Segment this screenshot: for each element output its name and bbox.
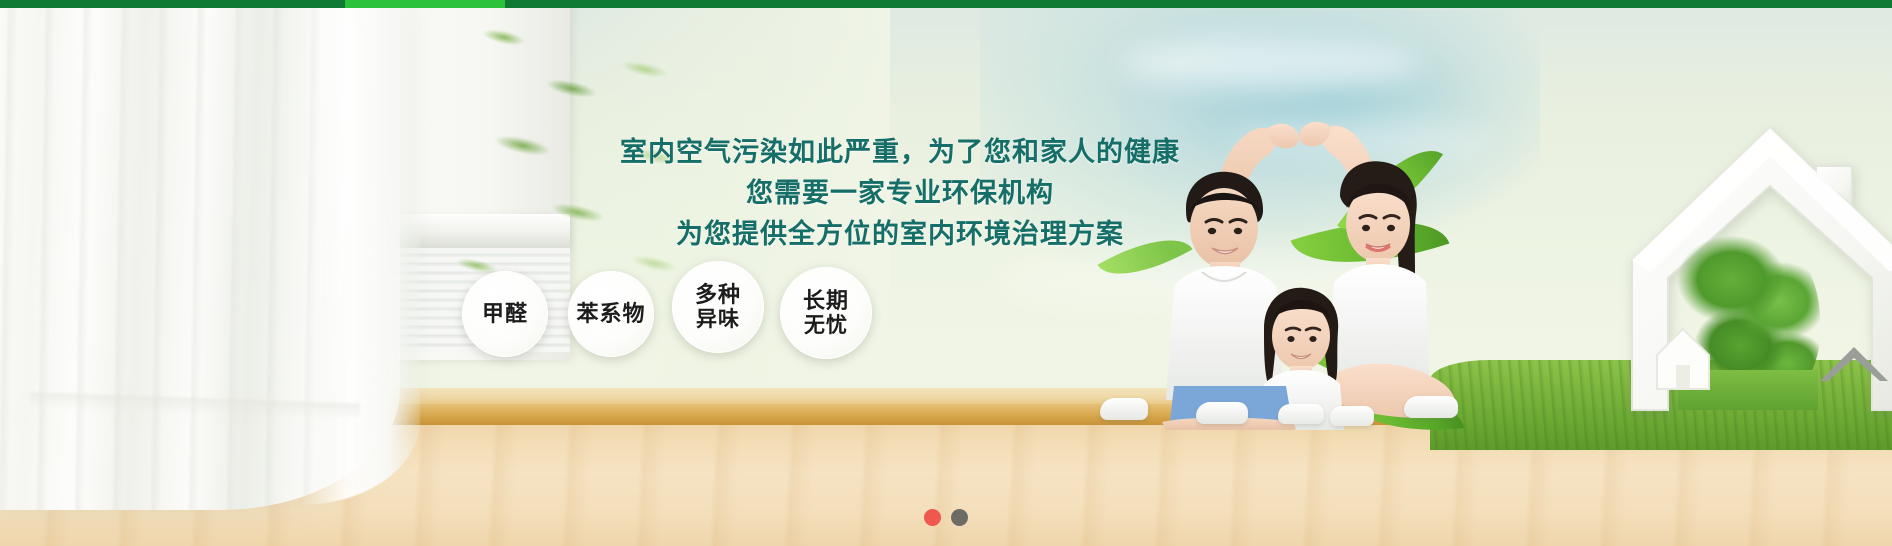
carousel-dot-1[interactable] bbox=[924, 509, 941, 526]
carousel-dot-2[interactable] bbox=[951, 509, 968, 526]
headline-line-2: 您需要一家专业环保机构 bbox=[560, 173, 1240, 214]
hero-headline: 室内空气污染如此严重，为了您和家人的健康 您需要一家专业环保机构 为您提供全方位… bbox=[560, 132, 1240, 255]
badge-formaldehyde-label: 甲醛 bbox=[482, 302, 528, 327]
feature-badge-group: 甲醛 苯系物 多种 异味 长期 无忧 bbox=[462, 271, 872, 359]
badge-odors[interactable]: 多种 异味 bbox=[672, 261, 764, 353]
gray-roof-peak bbox=[1818, 345, 1890, 385]
small-house-icon bbox=[1654, 325, 1712, 393]
badge-odors-label-2: 异味 bbox=[696, 308, 740, 332]
cloud-wisp-1 bbox=[1120, 38, 1420, 88]
headline-line-1: 室内空气污染如此严重，为了您和家人的健康 bbox=[560, 132, 1240, 173]
nav-strip-active[interactable] bbox=[345, 0, 505, 8]
badge-formaldehyde[interactable]: 甲醛 bbox=[462, 271, 548, 357]
shoe-1 bbox=[1100, 398, 1148, 420]
top-nav-bar[interactable] bbox=[0, 0, 1892, 8]
headline-line-3: 为您提供全方位的室内环境治理方案 bbox=[560, 214, 1240, 255]
badge-longterm[interactable]: 长期 无忧 bbox=[780, 267, 872, 359]
nav-strip-left[interactable] bbox=[0, 0, 345, 8]
badge-longterm-label-1: 长期 bbox=[803, 289, 849, 314]
carousel-pagination[interactable] bbox=[0, 509, 1892, 526]
badge-longterm-label-2: 无忧 bbox=[804, 314, 848, 338]
nav-strip-right[interactable] bbox=[505, 0, 1892, 8]
badge-benzene-label: 苯系物 bbox=[576, 302, 645, 327]
shoe-5 bbox=[1404, 396, 1458, 418]
shoe-4 bbox=[1330, 406, 1374, 426]
shoe-2 bbox=[1196, 402, 1248, 424]
hero-banner: 室内空气污染如此严重，为了您和家人的健康 您需要一家专业环保机构 为您提供全方位… bbox=[0, 0, 1892, 546]
badge-odors-label-1: 多种 bbox=[695, 283, 741, 308]
curtain-trailing-edge bbox=[300, 0, 420, 505]
shoe-3 bbox=[1278, 404, 1324, 424]
badge-benzene[interactable]: 苯系物 bbox=[568, 271, 654, 357]
